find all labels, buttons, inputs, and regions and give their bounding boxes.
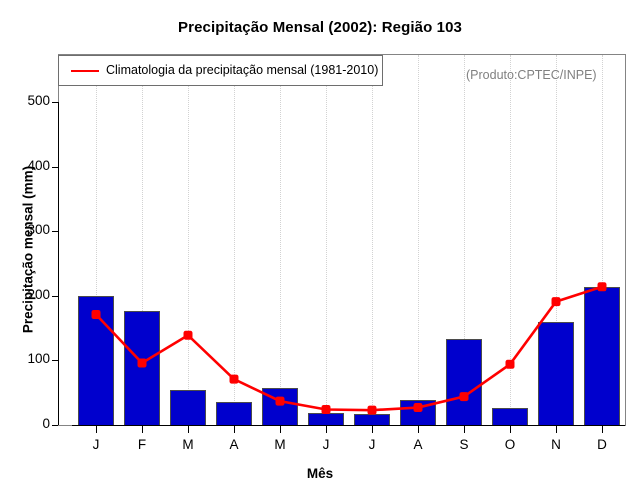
x-tick-label: D [587,437,617,452]
plot-area [59,55,625,425]
y-tick-mark [52,167,58,168]
x-tick-label: O [495,437,525,452]
chart-title: Precipitação Mensal (2002): Região 103 [0,19,640,36]
precipitation-chart-figure: Precipitação Mensal (2002): Região 103 0… [0,0,640,500]
legend: Climatologia da precipitação mensal (198… [58,55,383,86]
y-tick-mark [52,425,58,426]
x-tick-label: J [357,437,387,452]
x-tick-mark [96,426,97,433]
climatology-point-f-1 [138,358,147,367]
x-tick-label: M [265,437,295,452]
x-tick-mark [234,426,235,433]
x-tick-label: A [219,437,249,452]
climatology-point-j-0 [92,310,101,319]
legend-line-swatch [71,70,99,72]
climatology-point-m-4 [276,397,285,406]
climatology-points [92,282,607,414]
y-axis-label: Precipitação mensal (mm) [21,130,36,370]
y-tick-mark [52,360,58,361]
x-tick-label: F [127,437,157,452]
x-axis-line [72,425,625,426]
x-tick-label: J [311,437,341,452]
x-tick-mark [418,426,419,433]
climatology-point-m-2 [184,331,193,340]
climatology-point-n-10 [552,297,561,306]
x-tick-label: J [81,437,111,452]
climatology-point-s-8 [460,392,469,401]
x-tick-mark [326,426,327,433]
x-tick-mark [510,426,511,433]
climatology-line-series [59,55,625,425]
x-tick-label: A [403,437,433,452]
climatology-polyline [96,287,602,410]
product-watermark: (Produto:CPTEC/INPE) [466,68,597,82]
x-tick-label: S [449,437,479,452]
climatology-point-o-9 [506,360,515,369]
x-tick-label: N [541,437,571,452]
y-tick-label: 500 [6,93,50,108]
x-tick-mark [464,426,465,433]
x-tick-mark [372,426,373,433]
y-tick-label: 0 [6,416,50,431]
climatology-point-a-7 [414,403,423,412]
x-tick-mark [188,426,189,433]
climatology-point-d-11 [598,282,607,291]
x-tick-mark [280,426,281,433]
climatology-point-a-3 [230,375,239,384]
x-tick-mark [602,426,603,433]
climatology-point-j-5 [322,405,331,414]
x-tick-label: M [173,437,203,452]
x-tick-mark [142,426,143,433]
y-axis-line [58,102,59,425]
x-tick-mark [556,426,557,433]
legend-entry-label: Climatologia da precipitação mensal (198… [106,63,378,77]
y-tick-mark [52,296,58,297]
y-tick-mark [52,231,58,232]
x-axis-label: Mês [0,466,640,481]
y-tick-mark [52,102,58,103]
climatology-point-j-6 [368,406,377,415]
